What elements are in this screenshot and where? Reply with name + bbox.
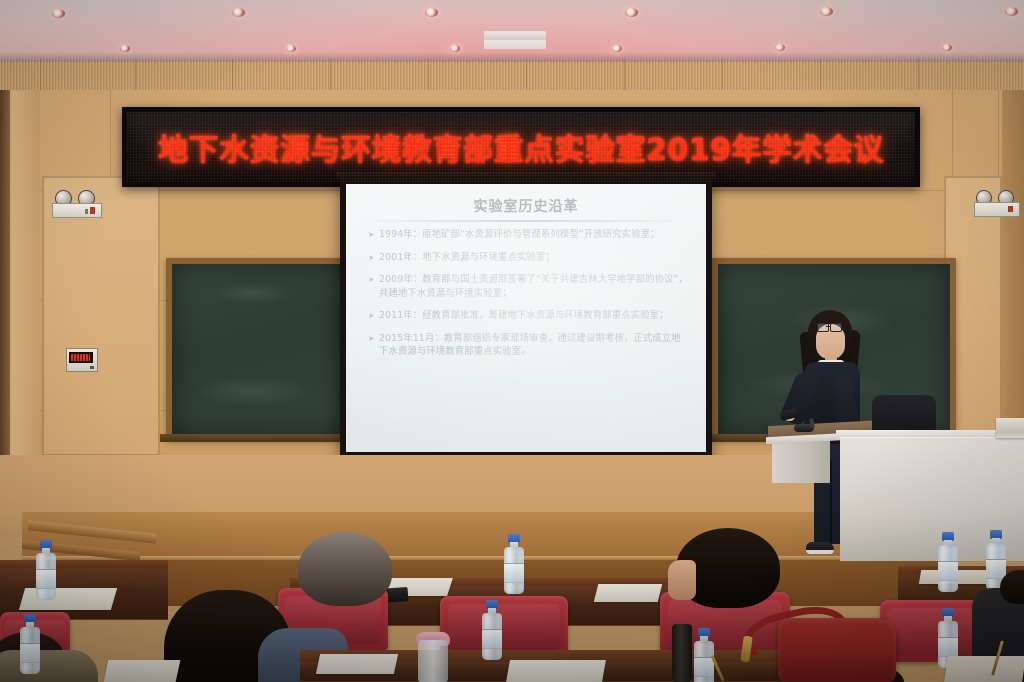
slide-body: 1994年：原地矿部“水资源评价与管理系列模型”开放研究实验室； 2001年：地…	[368, 228, 690, 446]
handbag	[778, 618, 896, 682]
blackboard-left	[166, 258, 352, 440]
water-bottle	[36, 540, 56, 600]
conference-room-photo: 地下水资源与环境教育部重点实验室2019年学术会议 实验室历史沿革 1994年：…	[0, 0, 1024, 682]
recessed-spotlight	[286, 45, 296, 52]
emergency-light-unit	[52, 190, 100, 216]
stacked-books	[996, 418, 1024, 438]
recessed-spotlight	[120, 45, 130, 52]
paper-sheet	[594, 584, 662, 602]
chalk-tray	[160, 434, 346, 442]
thermos-bottle	[672, 624, 692, 682]
water-bottle	[482, 600, 502, 660]
attendee-shoulder	[0, 650, 98, 682]
paper-sheet	[19, 588, 117, 610]
recessed-spotlight	[450, 45, 460, 52]
recessed-spotlight	[232, 8, 245, 17]
upper-wall-band	[0, 58, 1024, 92]
slide-bullet: 2011年：经教育部批准，筹建地下水资源与环境教育部重点实验室；	[368, 309, 690, 323]
recessed-spotlight	[425, 8, 438, 17]
led-banner-text: 地下水资源与环境教育部重点实验室2019年学术会议	[158, 125, 884, 169]
water-bottle	[20, 614, 40, 674]
recessed-spotlight	[625, 8, 638, 17]
left-wall-shadow	[0, 90, 10, 510]
water-bottle	[938, 532, 958, 592]
recessed-spotlight	[942, 44, 952, 51]
paper-sheet	[104, 660, 181, 682]
eyeglasses-icon	[817, 323, 829, 332]
slide-bullet: 2001年：地下水资源与环境重点实验室；	[368, 251, 690, 265]
recessed-spotlight	[612, 45, 622, 52]
glass-cup	[418, 640, 448, 682]
slide-bullet: 2015年11月：教育部组织专家现场审查，通过建设期考核，正式成立地下水资源与环…	[368, 332, 690, 359]
presentation-slide: 实验室历史沿革 1994年：原地矿部“水资源评价与管理系列模型”开放研究实验室；…	[346, 184, 706, 452]
slide-title: 实验室历史沿革	[346, 196, 706, 216]
ceiling-vent	[484, 31, 546, 49]
eyeglasses-icon	[830, 323, 842, 332]
paper-sheet	[506, 660, 606, 682]
slide-bullet: 1994年：原地矿部“水资源评价与管理系列模型”开放研究实验室；	[368, 228, 690, 242]
slide-bullet: 2009年：教育部与国土资源部签署了“关于共建吉林大学地学部的协议”，共建地下水…	[368, 273, 690, 300]
emergency-light-unit	[974, 190, 1018, 216]
lectern-podium	[772, 437, 830, 483]
left-wall-recess	[42, 176, 160, 456]
water-bottle	[504, 534, 524, 594]
paper-sheet	[316, 654, 398, 674]
slide-divider	[364, 220, 688, 222]
notepad	[944, 656, 1024, 682]
recessed-spotlight	[820, 7, 833, 16]
eyeglasses-icon	[826, 326, 830, 327]
projection-screen: 实验室历史沿革 1994年：原地矿部“水资源评价与管理系列模型”开放研究实验室；…	[346, 184, 706, 452]
attendee-head	[298, 532, 392, 606]
attendee-hand	[668, 560, 696, 600]
auditorium-seat	[440, 596, 568, 656]
presenter-shoe	[806, 550, 834, 554]
wall-led-indicator[interactable]	[66, 348, 98, 372]
recessed-spotlight	[775, 44, 785, 51]
recessed-spotlight	[1005, 7, 1018, 16]
recessed-spotlight	[52, 9, 65, 18]
